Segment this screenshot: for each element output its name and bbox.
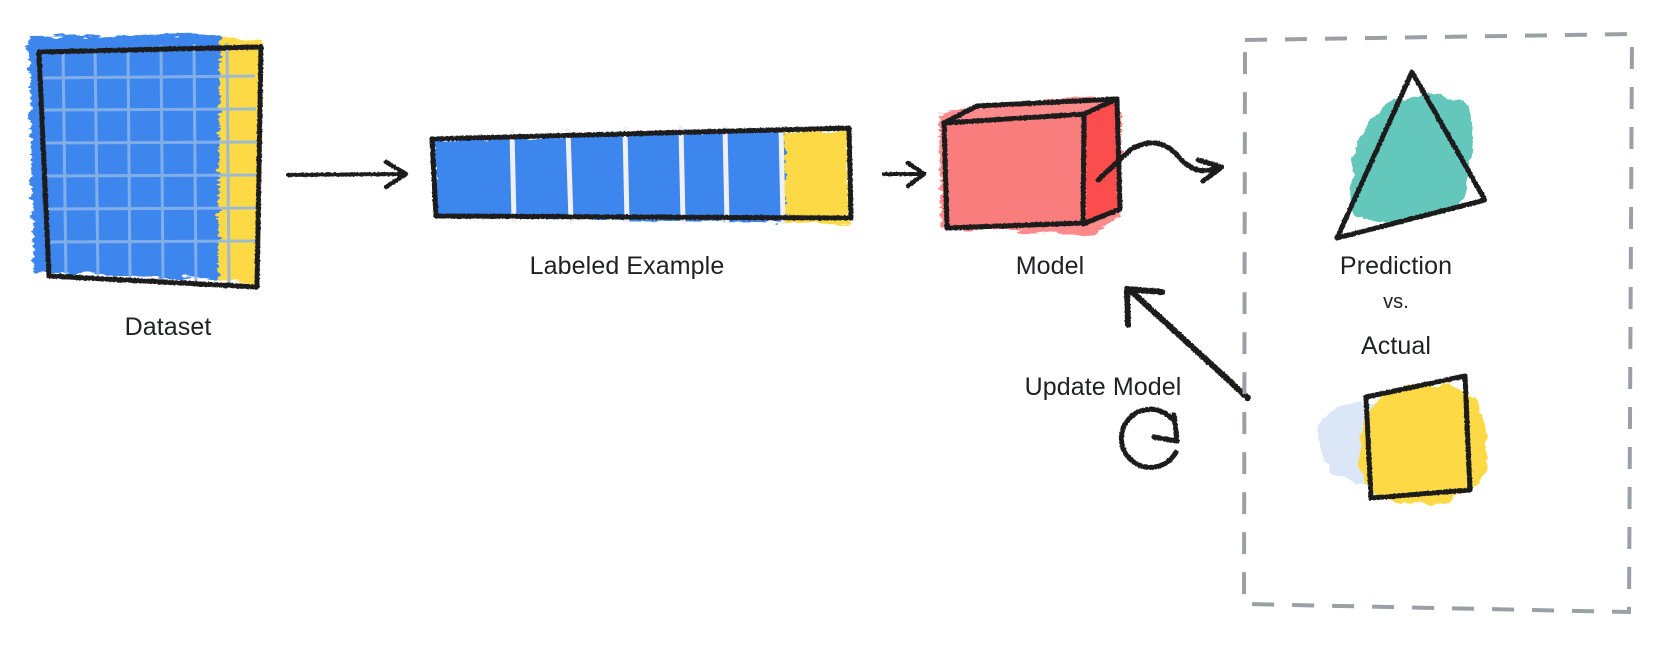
actual-label: Actual [1361,332,1431,361]
labeled-example-label: Labeled Example [530,252,725,281]
diagram-canvas: Dataset Labeled Example Model Update Mod… [0,0,1660,668]
dataset-label-column [214,36,262,285]
model-node[interactable] [939,95,1122,235]
update-model-label: Update Model [1025,373,1182,402]
refresh-icon[interactable] [1121,409,1177,467]
arrow-dataset-to-example [288,162,406,187]
labeled-example-feature-cells [434,129,785,222]
model-front-face [945,113,1083,226]
prediction-graphic[interactable] [1337,72,1485,238]
vs-label: vs. [1383,291,1409,314]
model-side-face [1086,100,1118,224]
prediction-label: Prediction [1340,252,1452,281]
arrow-example-to-model [884,163,924,186]
labeled-example-node[interactable] [432,127,851,224]
model-label: Model [1016,252,1085,281]
labeled-example-label-cell [781,131,849,224]
dataset-label: Dataset [125,313,212,342]
actual-graphic[interactable] [1318,376,1487,504]
prediction-blob [1351,94,1474,223]
dataset-node[interactable] [28,34,262,287]
